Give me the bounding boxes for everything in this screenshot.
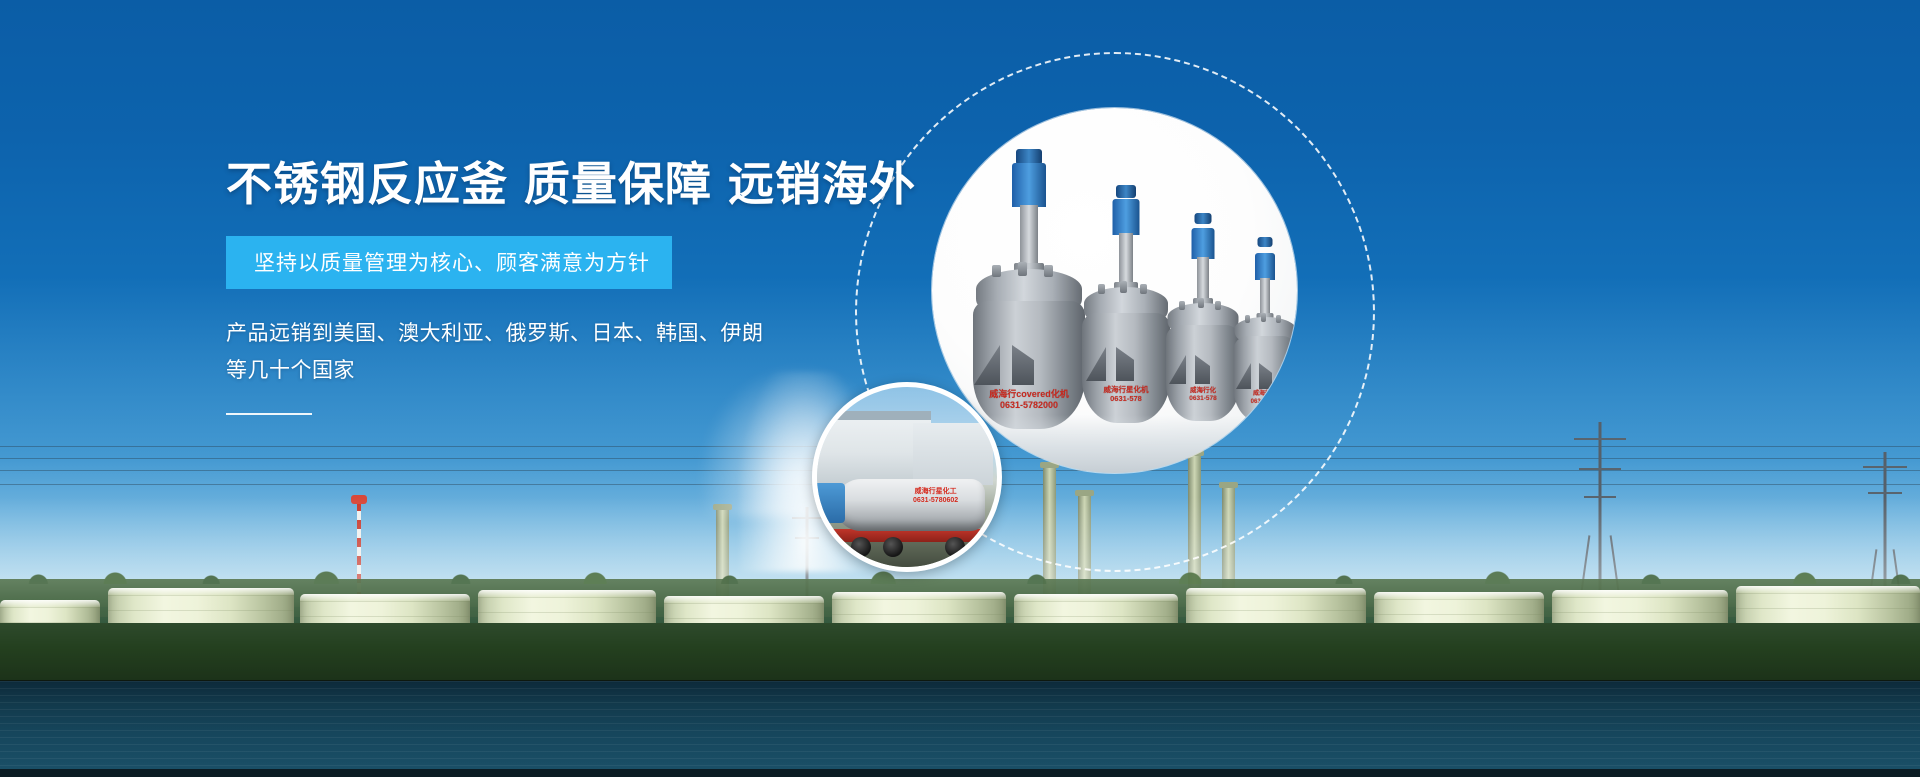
vessel-label: 威海行covered化机 0631-5782000: [989, 389, 1069, 412]
banner-subtitle-bar: 坚持以质量管理为核心、顾客满意为方针: [226, 236, 672, 289]
banner-paragraph: 产品远销到美国、澳大利亚、俄罗斯、日本、韩国、伊朗 等几十个国家: [226, 315, 786, 390]
vessel-label: 威海行化 0631-578: [1189, 387, 1216, 403]
vessel-label: 威海行星化机 0631-578: [1104, 385, 1149, 404]
bottom-edge-band: [0, 769, 1920, 777]
product-photo-circle: 威海行covered化机 0631-5782000 威海行星化机 0631-57…: [932, 108, 1297, 473]
vessel-label-line1: 威海行化: [1189, 387, 1216, 395]
factory-building: [913, 423, 993, 485]
truck-wheel: [945, 537, 965, 557]
tanker-label: 威海行星化工 0631-5780602: [913, 487, 958, 505]
headline-part-1: 不锈钢反应釜: [226, 158, 508, 210]
tanker-vessel: [835, 479, 985, 531]
reactor-vessel: 威海行化 0631-5780: [1232, 237, 1297, 435]
paragraph-line-1: 产品远销到美国、澳大利亚、俄罗斯、日本、韩国、伊朗: [226, 315, 786, 352]
banner-text-block: 不锈钢反应釜质量保障远销海外 坚持以质量管理为核心、顾客满意为方针 产品远销到美…: [226, 160, 926, 415]
vessel-label-line2: 0631-5780: [1251, 399, 1280, 407]
reactor-vessel: 威海行化 0631-578: [1164, 213, 1242, 435]
tanker-label-line1: 威海行星化工: [913, 487, 958, 496]
headline-part-3: 远销海外: [728, 158, 916, 210]
truck-wheel: [883, 537, 903, 557]
water: [0, 681, 1920, 777]
hero-banner: 威海行covered化机 0631-5782000 威海行星化机 0631-57…: [0, 0, 1920, 777]
truck-wheel: [851, 537, 871, 557]
truck-cab: [812, 483, 845, 523]
paragraph-line-2: 等几十个国家: [226, 352, 786, 389]
vessel-label: 威海行化 0631-5780: [1251, 391, 1280, 406]
reactor-vessel: 威海行covered化机 0631-5782000: [970, 149, 1088, 435]
vessel-label-line1: 威海行星化机: [1104, 385, 1149, 394]
vessel-label-line2: 0631-578: [1189, 395, 1216, 403]
banner-headline: 不锈钢反应釜质量保障远销海外: [226, 160, 926, 210]
shoreline: [0, 623, 1920, 685]
reactor-vessel: 威海行星化机 0631-578: [1080, 185, 1172, 435]
vessel-label-line1: 威海行covered化机: [989, 389, 1069, 400]
tanker-label-line2: 0631-5780602: [913, 496, 958, 505]
decorative-rule: [226, 413, 312, 415]
vessel-label-line2: 0631-5782000: [989, 400, 1069, 411]
vessel-label-line2: 0631-578: [1104, 394, 1149, 403]
vessel-label-line1: 威海行化: [1251, 391, 1280, 399]
headline-part-2: 质量保障: [524, 158, 712, 210]
